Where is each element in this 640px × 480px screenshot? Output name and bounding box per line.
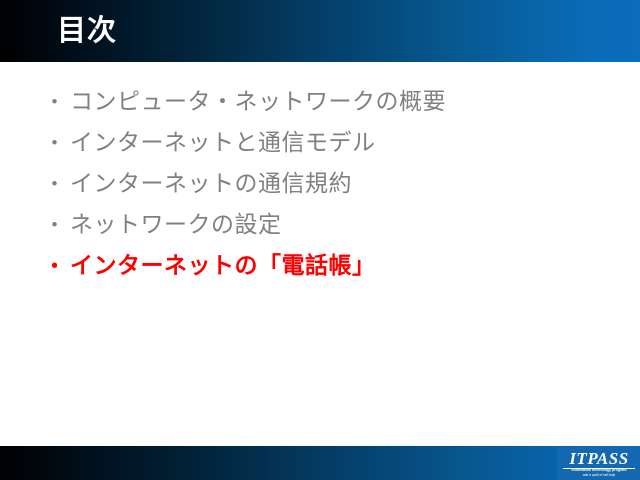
itpass-wordmark: ITPASS [563,450,635,469]
page-title: 目次 [57,14,117,48]
list-item-current[interactable]: ・ インターネットの「電話帳」 [44,248,604,289]
bullet-dot-icon: ・ [44,168,70,202]
table-of-contents-list: ・ コンピュータ・ネットワークの概要 ・ インターネットと通信モデル ・ インタ… [44,84,604,289]
bullet-dot-icon: ・ [44,250,70,284]
bullet-dot-icon: ・ [44,127,70,161]
list-item[interactable]: ・ コンピュータ・ネットワークの概要 [44,84,604,125]
footer-band [0,446,640,480]
bullet-dot-icon: ・ [44,86,70,120]
bullet-dot-icon: ・ [44,209,70,243]
list-item-label: コンピュータ・ネットワークの概要 [70,84,446,118]
list-item-label: ネットワークの設定 [70,207,282,241]
list-item[interactable]: ・ インターネットの通信規約 [44,166,604,207]
itpass-logo: ITPASS Information technology program wi… [557,447,640,480]
list-item-label: インターネットの通信規約 [70,166,352,200]
list-item-label: インターネットの「電話帳」 [70,248,376,282]
itpass-tagline-line1: Information technology program [561,468,637,472]
header-band: 目次 [0,0,640,62]
list-item-label: インターネットと通信モデル [70,125,376,159]
itpass-tagline-line2: with a spirit of self-help [563,473,635,477]
list-item[interactable]: ・ インターネットと通信モデル [44,125,604,166]
list-item[interactable]: ・ ネットワークの設定 [44,207,604,248]
slide-root: 目次 ・ コンピュータ・ネットワークの概要 ・ インターネットと通信モデル ・ … [0,0,640,480]
